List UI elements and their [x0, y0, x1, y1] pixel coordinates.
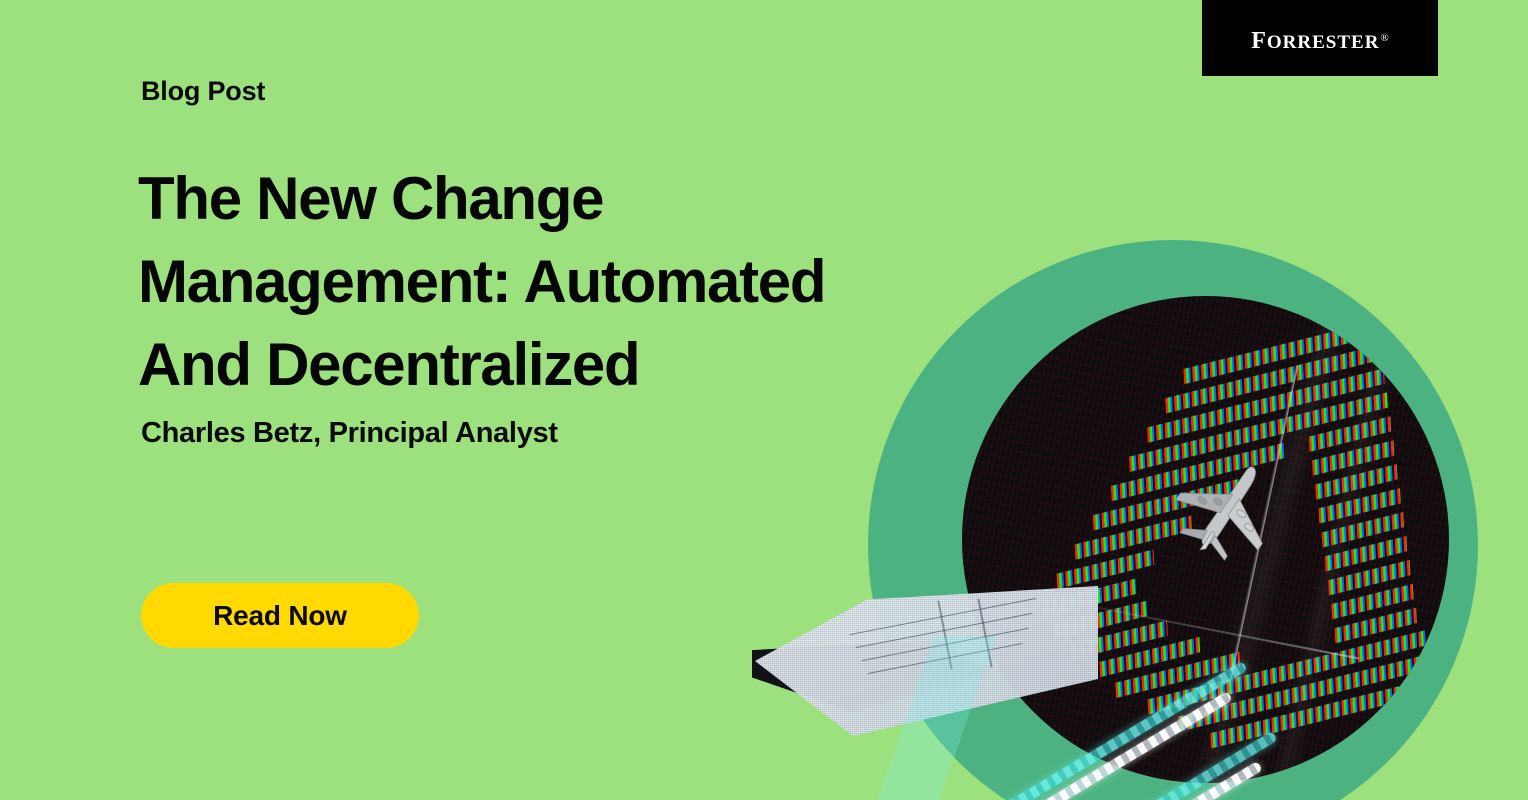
headline-line-3: And Decentralized: [138, 323, 988, 406]
read-now-button[interactable]: Read Now: [141, 583, 419, 648]
headline-line-2: Management: Automated: [138, 240, 988, 323]
registered-trademark-icon: ®: [1380, 32, 1388, 44]
dark-circle-photo-mask: [962, 296, 1449, 783]
screen-glare: [962, 296, 1449, 783]
forrester-logo[interactable]: Forrester®: [1202, 0, 1438, 76]
headline-line-1: The New Change: [138, 157, 988, 240]
page-title: The New Change Management: Automated And…: [138, 157, 988, 406]
forrester-logo-text: Forrester: [1251, 19, 1379, 57]
author-byline: Charles Betz, Principal Analyst: [141, 417, 558, 450]
screen-edge-highlight-lower: [1035, 595, 1359, 660]
text-column: Blog Post The New Change Management: Aut…: [0, 0, 1000, 800]
screen-edge-highlight: [1229, 365, 1298, 679]
airplane-icon: [1140, 424, 1315, 596]
content-type-label: Blog Post: [141, 76, 265, 107]
screen-noise-texture: [962, 296, 1449, 783]
promo-card: Blog Post The New Change Management: Aut…: [0, 0, 1528, 800]
contrail-cyan-lower: [989, 731, 1278, 800]
rgb-subpixel-screen: [983, 301, 1422, 783]
